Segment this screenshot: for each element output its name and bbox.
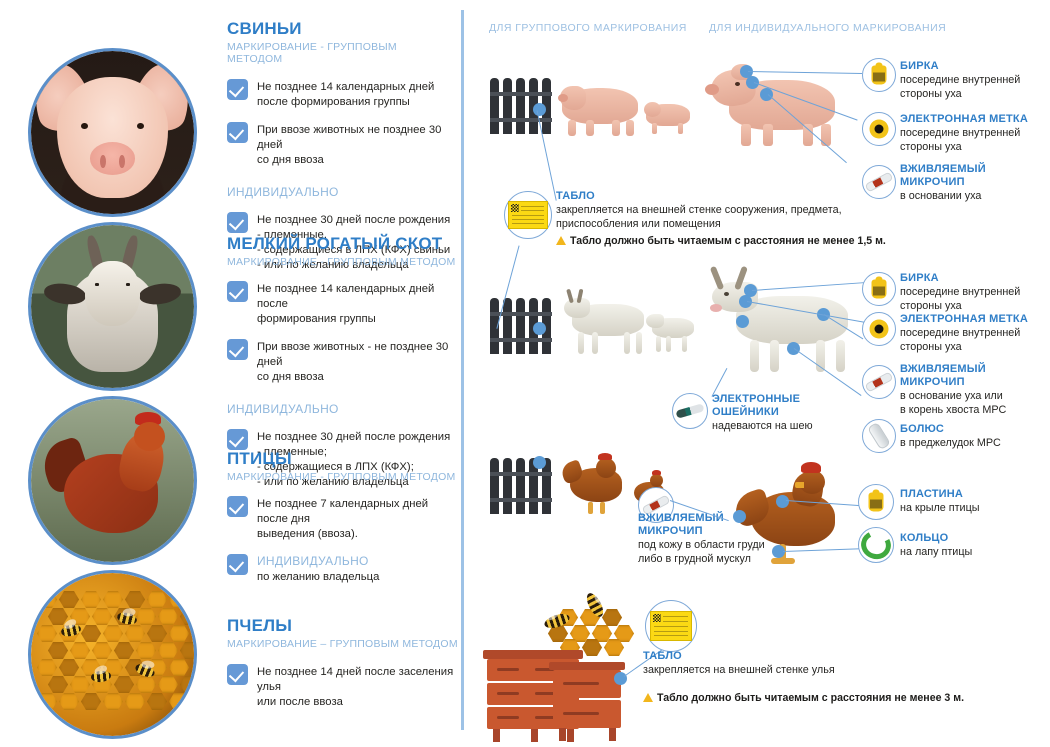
check-icon[interactable] bbox=[227, 496, 248, 517]
callout-goat-tag: БИРКА посередине внутренней стороны уха bbox=[900, 272, 1050, 314]
checklist-item[interactable]: Не позднее 14 календарных дней после фор… bbox=[227, 281, 459, 327]
bubble-electronic-tag bbox=[862, 112, 896, 146]
checklist-item[interactable]: Не позднее 7 календарных дней после дня … bbox=[227, 496, 459, 542]
check-icon[interactable] bbox=[227, 554, 248, 575]
callout-desc: закрепляется на внешней стенке улья bbox=[643, 664, 1023, 678]
bolus-icon bbox=[867, 422, 891, 450]
ear-tag-icon bbox=[872, 66, 887, 85]
callout-title: ЭЛЕКТРОННЫЕ ОШЕЙНИКИ bbox=[712, 393, 852, 419]
callout-desc: в основание уха или в корень хвоста МРС bbox=[900, 390, 1050, 418]
callout-title: ТАБЛО bbox=[643, 650, 1023, 663]
checklist-text: Не позднее 14 дней после заселения улья … bbox=[257, 664, 459, 710]
bubble-ear-tag bbox=[862, 58, 896, 92]
callout-desc: посередине внутренней стороны уха bbox=[900, 74, 1050, 102]
checklist-text: Не позднее 14 календарных дней после фор… bbox=[257, 281, 459, 327]
bubble-tablo-main bbox=[504, 191, 552, 239]
section-subtitle-small-ruminants: МАРКИРОВАНИЕ - ГРУППОВЫМ МЕТОДОМ bbox=[227, 256, 459, 268]
pig-photo bbox=[28, 48, 197, 217]
check-icon[interactable] bbox=[227, 79, 248, 100]
section-subtitle-pigs: МАРКИРОВАНИЕ - ГРУППОВЫМ МЕТОДОМ bbox=[227, 41, 452, 65]
checklist-text: по желанию владельца bbox=[257, 568, 379, 585]
callout-title: ВЖИВЛЯЕМЫЙ МИКРОЧИП bbox=[900, 163, 1050, 189]
bubble-microchip bbox=[862, 365, 896, 399]
electronic-tag-icon bbox=[870, 320, 889, 339]
check-icon[interactable] bbox=[227, 429, 248, 450]
anchor-dot-bird-fence bbox=[533, 456, 546, 469]
leg-ring-icon bbox=[857, 527, 894, 563]
checklist-text: Не позднее 7 календарных дней после дня … bbox=[257, 496, 459, 542]
callout-bird-ring: КОЛЬЦО на лапу птицы bbox=[900, 532, 1050, 560]
section-title-bees: ПЧЕЛЫ bbox=[227, 617, 459, 635]
checklist-text: При ввозе животных - не позднее 30 дней … bbox=[257, 339, 459, 385]
tablo-warning-main: Табло должно быть читаемым с расстояния … bbox=[556, 235, 936, 247]
hen-individual-illustration bbox=[735, 470, 855, 568]
column-header-group: ДЛЯ ГРУППОВОГО МАРКИРОВАНИЯ bbox=[489, 22, 687, 34]
callout-desc: надеваются на шею bbox=[712, 420, 852, 434]
checklist-item[interactable]: ИНДИВИДУАЛЬНО по желанию владельца bbox=[227, 554, 459, 585]
callout-goat-bolus: БОЛЮС в преджелудок МРС bbox=[900, 423, 1050, 451]
callout-title: БИРКА bbox=[900, 60, 1050, 73]
tablo-board-icon bbox=[508, 201, 548, 229]
checklist-text: При ввозе животных не позднее 30 дней со… bbox=[257, 122, 452, 168]
callout-goat-collar: ЭЛЕКТРОННЫЕ ОШЕЙНИКИ надеваются на шею bbox=[712, 393, 852, 434]
vertical-divider bbox=[461, 10, 464, 730]
anchor-dot-goat-neck bbox=[736, 315, 749, 328]
bubble-wing-plate bbox=[858, 484, 894, 520]
callout-desc: на лапу птицы bbox=[900, 546, 1050, 560]
honeycomb-photo bbox=[28, 570, 197, 739]
microchip-icon bbox=[865, 371, 894, 392]
electronic-tag-icon bbox=[870, 120, 889, 139]
pig-group-illustration bbox=[560, 78, 695, 140]
anchor-dot-goat-fence bbox=[533, 322, 546, 335]
callout-title: БОЛЮС bbox=[900, 423, 1050, 436]
column-header-individual: ДЛЯ ИНДИВИДУАЛЬНОГО МАРКИРОВАНИЯ bbox=[709, 22, 946, 34]
section-title-small-ruminants: МЕЛКИЙ РОГАТЫЙ СКОТ bbox=[227, 235, 459, 253]
check-icon[interactable] bbox=[227, 339, 248, 360]
wing-plate-icon bbox=[869, 493, 884, 512]
check-icon[interactable] bbox=[227, 122, 248, 143]
checklist-item[interactable]: Не позднее 14 дней после заселения улья … bbox=[227, 664, 459, 710]
callout-desc: посередине внутренней стороны уха bbox=[900, 127, 1050, 155]
hen-photo bbox=[28, 396, 197, 565]
callout-title: ЭЛЕКТРОННАЯ МЕТКА bbox=[900, 113, 1050, 126]
warning-triangle-icon bbox=[643, 693, 653, 702]
callout-tablo-hive: ТАБЛО закрепляется на внешней стенке уль… bbox=[643, 650, 1023, 704]
bubble-collar bbox=[672, 393, 708, 429]
pig-individual-illustration bbox=[705, 62, 845, 148]
checklist-item[interactable]: Не позднее 14 календарных дней после фор… bbox=[227, 79, 452, 110]
bubble-tablo-hive bbox=[645, 600, 697, 652]
section-subtitle-birds: МАРКИРОВАНИЕ - ГРУППОВЫМ МЕТОДОМ bbox=[227, 471, 459, 483]
check-icon[interactable] bbox=[227, 664, 248, 685]
callout-pig-etag: ЭЛЕКТРОННАЯ МЕТКА посередине внутренней … bbox=[900, 113, 1050, 155]
ear-tag-icon bbox=[872, 280, 887, 299]
bubble-electronic-tag bbox=[862, 312, 896, 346]
bubble-bolus bbox=[862, 419, 896, 453]
callout-goat-etag: ЭЛЕКТРОННАЯ МЕТКА посередине внутренней … bbox=[900, 313, 1050, 355]
warning-text: Табло должно быть читаемым с расстояния … bbox=[570, 235, 886, 247]
goat-photo bbox=[28, 222, 197, 391]
checklist-item[interactable]: При ввозе животных не позднее 30 дней со… bbox=[227, 122, 452, 168]
callout-title: ТАБЛО bbox=[556, 190, 936, 203]
beehive-illustration bbox=[483, 650, 643, 738]
individual-label-small-ruminants: ИНДИВИДУАЛЬНО bbox=[227, 402, 459, 416]
bubble-ear-tag bbox=[862, 272, 896, 306]
callout-title: ЭЛЕКТРОННАЯ МЕТКА bbox=[900, 313, 1050, 326]
anchor-dot-pig-fence bbox=[533, 103, 546, 116]
checklist-text: Не позднее 14 календарных дней после фор… bbox=[257, 79, 434, 110]
anchor-dot-bird-breast bbox=[733, 510, 746, 523]
section-birds: ПТИЦЫ МАРКИРОВАНИЕ - ГРУППОВЫМ МЕТОДОМ Н… bbox=[227, 450, 459, 585]
callout-desc: посередине внутренней стороны уха bbox=[900, 286, 1050, 314]
section-bees: ПЧЕЛЫ МАРКИРОВАНИЕ – ГРУППОВЫМ МЕТОДОМ Н… bbox=[227, 617, 459, 710]
section-title-birds: ПТИЦЫ bbox=[227, 450, 459, 468]
infographic-canvas: СВИНЬИ МАРКИРОВАНИЕ - ГРУППОВЫМ МЕТОДОМ … bbox=[0, 0, 1050, 747]
collar-icon bbox=[675, 403, 704, 418]
individual-label-pigs: ИНДИВИДУАЛЬНО bbox=[227, 185, 452, 199]
callout-title: КОЛЬЦО bbox=[900, 532, 1050, 545]
callout-desc: на крыле птицы bbox=[900, 502, 1050, 516]
checklist-item[interactable]: При ввозе животных - не позднее 30 дней … bbox=[227, 339, 459, 385]
callout-desc: посередине внутренней стороны уха bbox=[900, 327, 1050, 355]
callout-title: БИРКА bbox=[900, 272, 1050, 285]
callout-tablo-main: ТАБЛО закрепляется на внешней стенке соо… bbox=[556, 190, 936, 247]
callout-bird-plate: ПЛАСТИНА на крыле птицы bbox=[900, 488, 1050, 516]
callout-pig-tag: БИРКА посередине внутренней стороны уха bbox=[900, 60, 1050, 102]
section-title-pigs: СВИНЬИ bbox=[227, 20, 452, 38]
check-icon[interactable] bbox=[227, 281, 248, 302]
callout-desc: в преджелудок МРС bbox=[900, 437, 1050, 451]
honeycomb-bees-illustration bbox=[536, 595, 632, 651]
anchor-dot-bird-wing bbox=[776, 495, 789, 508]
tablo-warning-hive: Табло должно быть читаемым с расстояния … bbox=[643, 692, 1023, 704]
bubble-leg-ring bbox=[858, 527, 894, 563]
individual-label-birds: ИНДИВИДУАЛЬНО bbox=[257, 554, 379, 568]
goat-group-illustration bbox=[558, 290, 698, 360]
section-subtitle-bees: МАРКИРОВАНИЕ – ГРУППОВЫМ МЕТОДОМ bbox=[227, 638, 459, 650]
tablo-board-icon bbox=[650, 611, 692, 641]
callout-goat-chip: ВЖИВЛЯЕМЫЙ МИКРОЧИП в основание уха или … bbox=[900, 363, 1050, 418]
check-icon[interactable] bbox=[227, 212, 248, 233]
warning-text: Табло должно быть читаемым с расстояния … bbox=[657, 692, 964, 704]
callout-title: ПЛАСТИНА bbox=[900, 488, 1050, 501]
warning-triangle-icon bbox=[556, 236, 566, 245]
callout-desc: закрепляется на внешней стенке сооружени… bbox=[556, 204, 936, 232]
callout-title: ВЖИВЛЯЕМЫЙ МИКРОЧИП bbox=[900, 363, 1050, 389]
